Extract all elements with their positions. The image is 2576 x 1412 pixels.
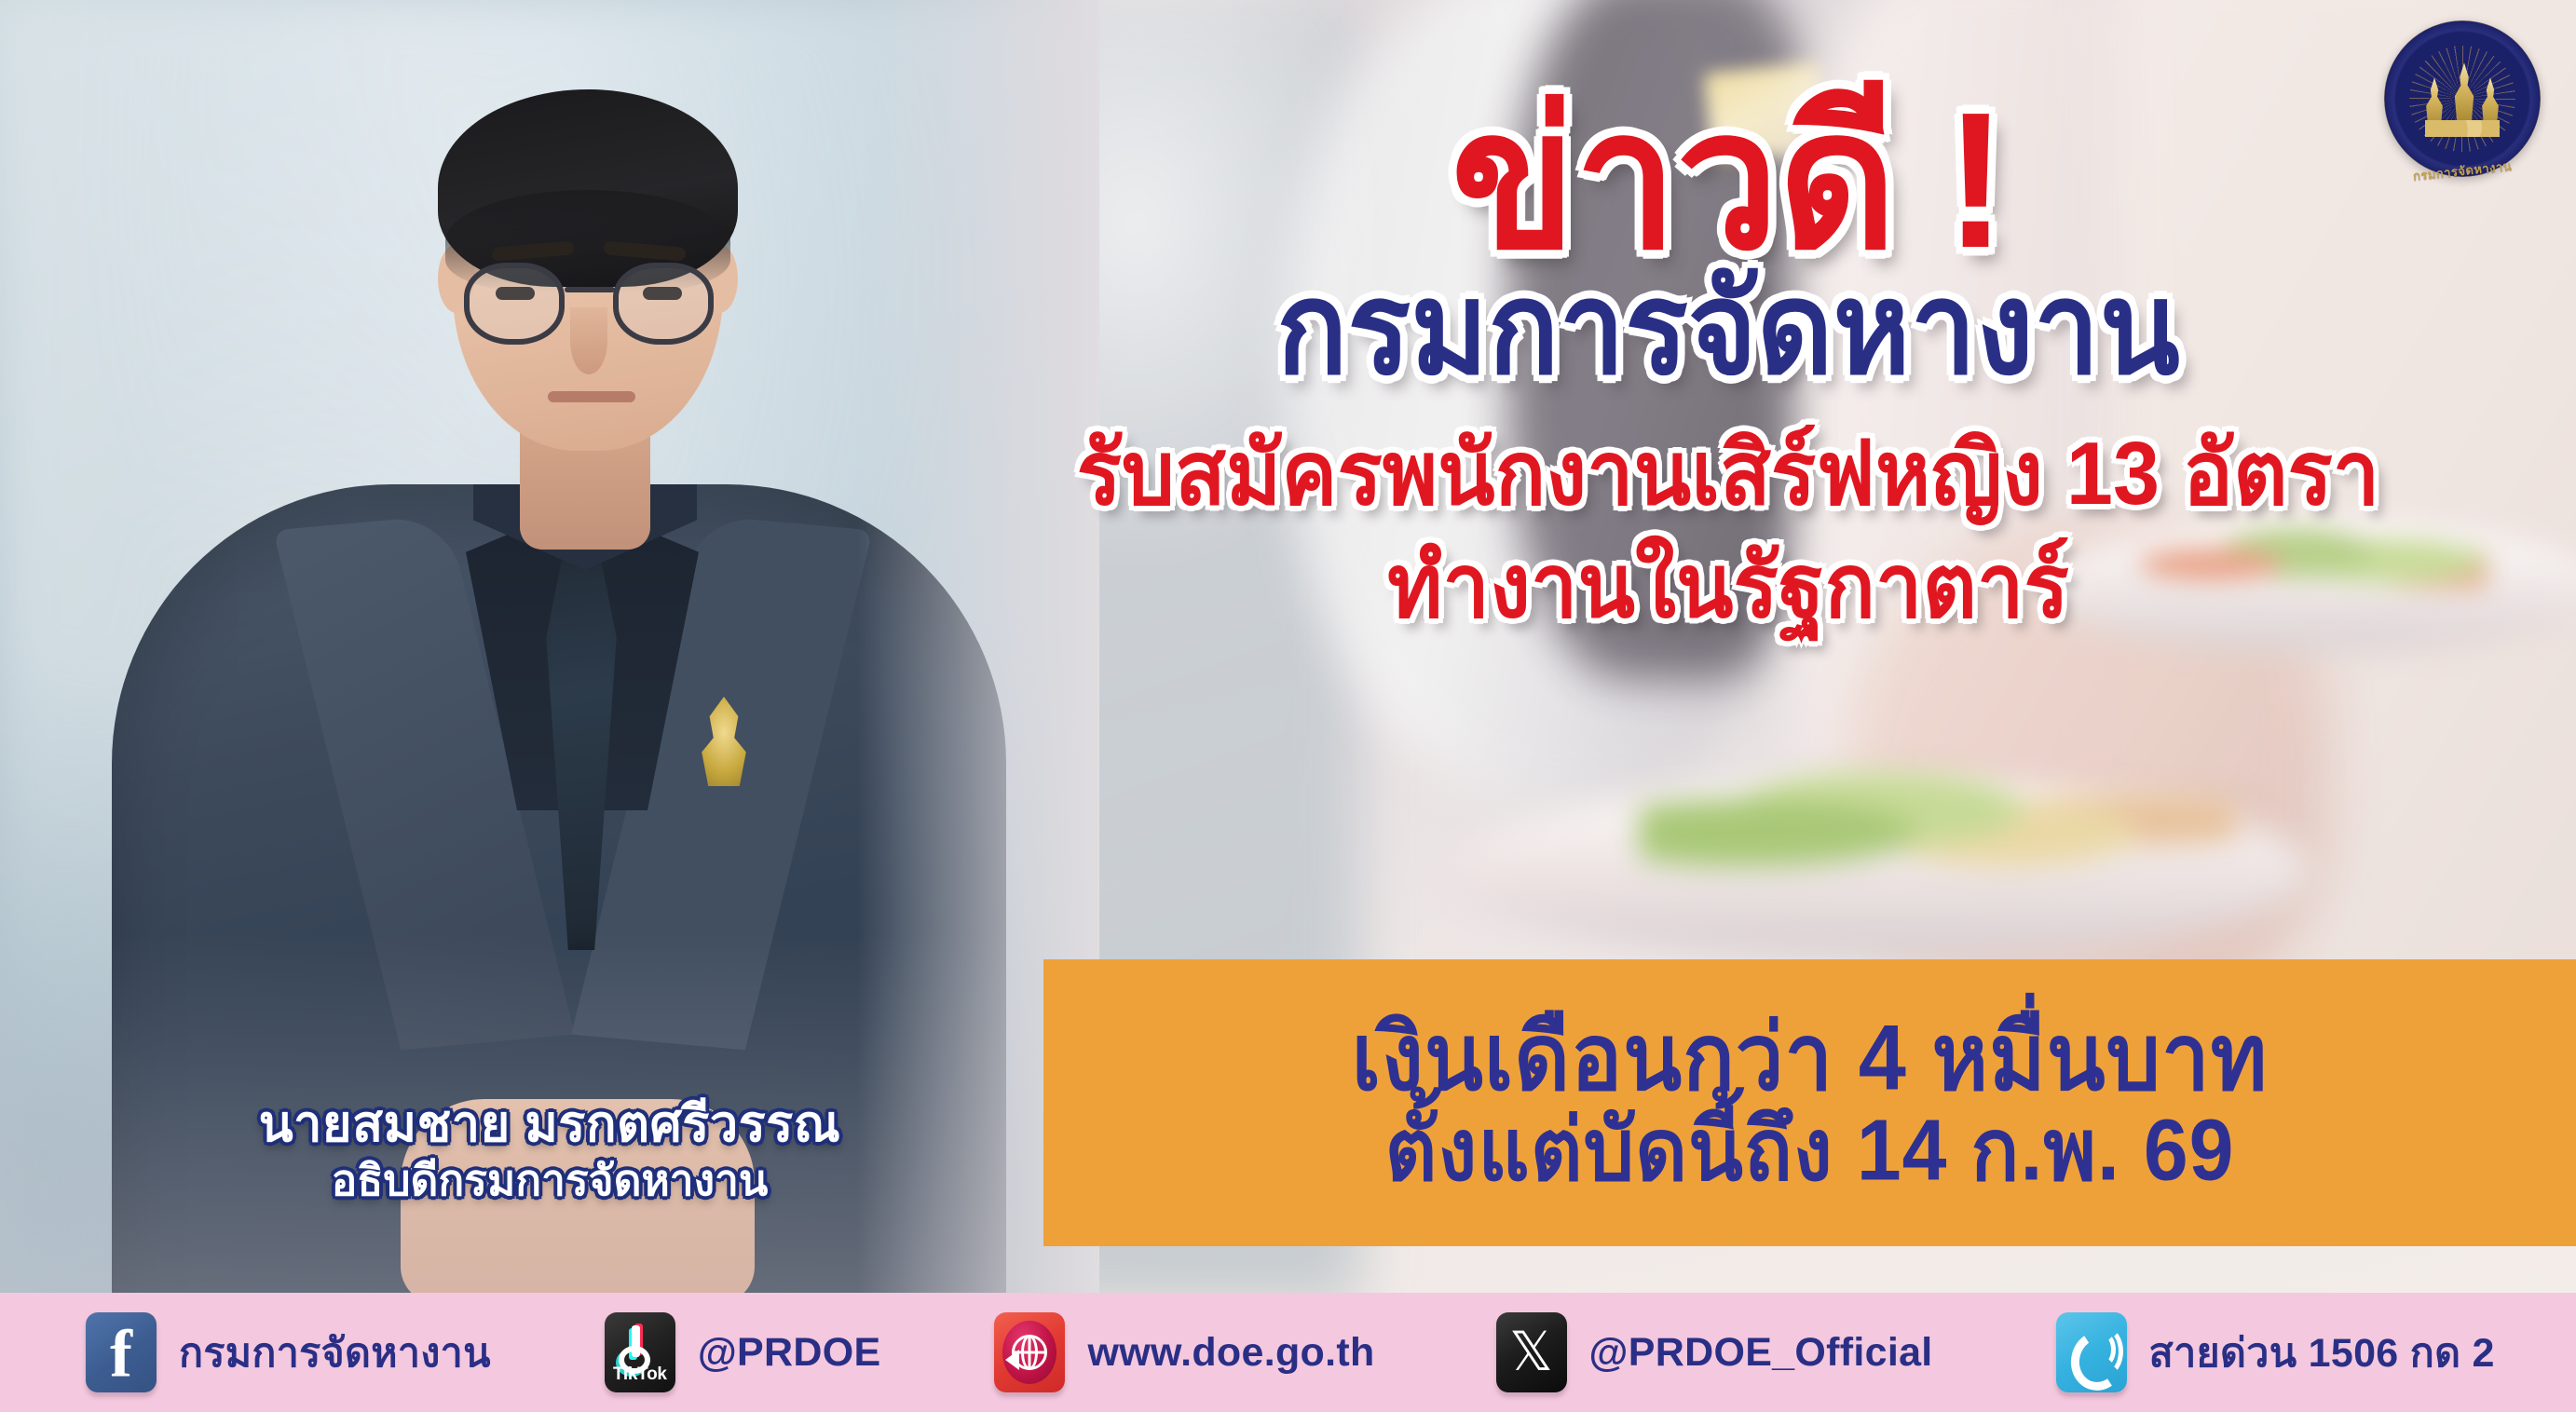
- headline-work-country: ทำงานในรัฐกาตาร์: [941, 538, 2515, 636]
- portrait-caption: นายสมชาย มรกตศรีวรรณ อธิบดีกรมการจัดหางา…: [0, 1097, 1099, 1204]
- headline-good-news: ข่าวดี !: [941, 84, 2515, 278]
- footer-item-tiktok[interactable]: TikTok @PRDOE: [605, 1293, 881, 1412]
- globe-meridian: [1021, 1335, 1038, 1370]
- salary-text: เงินเดือนกว่า 4 หมื่นบาท: [1352, 1010, 2269, 1107]
- globe-arrow: [1005, 1350, 1019, 1370]
- tiktok-note-glyph: [624, 1325, 656, 1363]
- seal-deity-figures: [2413, 62, 2512, 141]
- highlight-band: เงินเดือนกว่า 4 หมื่นบาท ตั้งแต่บัดนี้ถึ…: [1043, 959, 2576, 1246]
- tiktok-wordmark: TikTok: [605, 1364, 675, 1385]
- facebook-label[interactable]: กรมการจัดหางาน: [179, 1321, 491, 1384]
- globe-icon[interactable]: [994, 1312, 1065, 1392]
- background-food-lower: [1640, 736, 2236, 903]
- x-twitter-icon[interactable]: [1496, 1312, 1567, 1392]
- director-role: อธิบดีกรมการจัดหางาน: [0, 1157, 1099, 1204]
- hotline-label[interactable]: สายด่วน 1506 กด 2: [2149, 1321, 2495, 1384]
- tiktok-label[interactable]: @PRDOE: [698, 1330, 881, 1376]
- website-label[interactable]: www.doe.go.th: [1087, 1330, 1374, 1376]
- headline-job-positions: รับสมัครพนักงานเสิร์ฟหญิง 13 อัตรา: [941, 426, 2515, 523]
- footer-item-facebook[interactable]: กรมการจัดหางาน: [86, 1293, 491, 1412]
- portrait-nose: [570, 307, 607, 374]
- lapel-pin-body: [691, 697, 756, 786]
- x-twitter-label[interactable]: @PRDOE_Official: [1589, 1330, 1933, 1376]
- lapel-pin-icon: [691, 697, 756, 786]
- footer-item-hotline[interactable]: สายด่วน 1506 กด 2: [2056, 1293, 2495, 1412]
- portrait-hair: [438, 89, 738, 287]
- deadline-text: ตั้งแต่บัดนี้ถึง 14 ก.พ. 69: [1385, 1106, 2235, 1197]
- footer-item-website[interactable]: www.doe.go.th: [994, 1293, 1374, 1412]
- facebook-icon[interactable]: [86, 1312, 157, 1392]
- seal-figure-center: [2450, 62, 2478, 122]
- poster-banner: นายสมชาย มรกตศรีวรรณ อธิบดีกรมการจัดหางา…: [0, 0, 2576, 1412]
- eyeglass-lens-left: [464, 263, 565, 345]
- eyeglass-bridge: [565, 287, 615, 292]
- portrait-mouth: [548, 391, 635, 402]
- phone-icon[interactable]: [2056, 1312, 2127, 1392]
- headline-department: กรมการจัดหางาน: [941, 260, 2515, 397]
- eyeglass-lens-right: [613, 263, 714, 345]
- director-name: นายสมชาย มรกตศรีวรรณ: [0, 1097, 1099, 1151]
- phone-wave-glyph: [2092, 1327, 2116, 1376]
- headline-block: ข่าวดี ! กรมการจัดหางาน รับสมัครพนักงานเ…: [941, 89, 2515, 633]
- contact-footer-bar: กรมการจัดหางาน TikTok @PRDOE www.doe.go.…: [0, 1293, 2576, 1412]
- tiktok-icon[interactable]: TikTok: [605, 1312, 675, 1392]
- department-seal-icon: กรมการจัดหางาน: [2384, 20, 2541, 177]
- seal-cloud: [2425, 120, 2500, 137]
- footer-item-x-twitter[interactable]: @PRDOE_Official: [1496, 1293, 1933, 1412]
